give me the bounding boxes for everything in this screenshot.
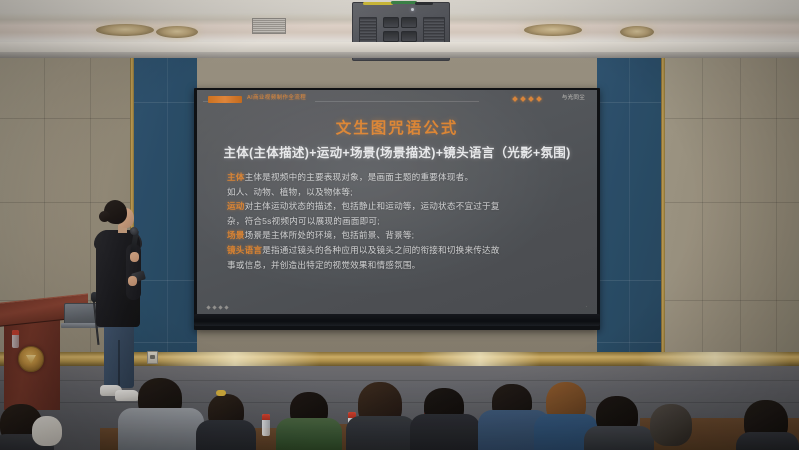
slide-body-line: 场景场景是主体所处的环境，包括前景、背景等; (227, 228, 575, 243)
slide-body-line: 镜头语言是指通过镜头的各种应用以及镜头之间的衔接和切换来传达故 (227, 243, 575, 258)
projection-screen-roller (194, 314, 600, 326)
presenter-hand-mic (130, 252, 139, 262)
water-bottle-podium (12, 330, 19, 348)
slide-logo-text: 与光同尘 (562, 93, 585, 101)
slide-body-text: 主体是视频中的主要表现对象，是画面主题的重要体现者。 (245, 172, 474, 182)
slide-keyword: 场景 (227, 230, 245, 240)
slide-diamond-accents (513, 97, 541, 101)
ceiling (0, 0, 799, 58)
slide-page-marker: · (585, 304, 587, 310)
wall-outlet-left (147, 351, 158, 364)
slide-footer-dots (207, 306, 228, 309)
audience-head (32, 416, 62, 446)
slide-body-text: 对主体运动状态的描述，包括静止和运动等，运动状态不宜过于复 (245, 201, 500, 211)
slide-keyword: 镜头语言 (227, 245, 262, 255)
slide-badge (208, 96, 242, 103)
slide-topbar: AI商业视频制作全流程 与光同尘 (197, 90, 597, 112)
audience-head (650, 404, 692, 446)
hair-tie (216, 390, 226, 396)
slide-body-line: 主体主体是视频中的主要表现对象，是画面主题的重要体现者。 (227, 170, 575, 185)
audience-body (346, 416, 416, 450)
slide-body-text: 如人、动物、植物，以及物体等; (227, 187, 353, 197)
slide-section-label: AI商业视频制作全流程 (247, 93, 306, 101)
water-bottle (262, 414, 270, 436)
microphone-capsule-icon (130, 227, 138, 235)
slide-body-text: 是指通过镜头的各种应用以及镜头之间的衔接和切换来传达故 (262, 245, 499, 255)
presenter-leg-seam (118, 340, 120, 388)
ceiling-vent-icon (252, 18, 286, 34)
slide-content: AI商业视频制作全流程 与光同尘 文生图咒语公式 主体(主体描述)+运动+场景(… (197, 90, 597, 314)
slide-body-text: 事或信息，并创造出特定的视觉效果和情感氛围。 (227, 260, 420, 270)
slide-body-text: 杂，符合5s视频内可以展现的画面即可; (227, 216, 380, 226)
slide-body-line: 杂，符合5s视频内可以展现的画面即可; (227, 214, 575, 229)
slide-body-line: 运动对主体运动状态的描述，包括静止和运动等，运动状态不宜过于复 (227, 199, 575, 214)
audience-body (584, 426, 654, 450)
downlight-icon (524, 24, 582, 36)
downlight-icon (156, 26, 198, 38)
downlight-icon (96, 24, 154, 36)
wall-panel-beige-right (664, 56, 799, 386)
audience-body (196, 420, 256, 450)
audience-body (276, 418, 342, 450)
presenter (86, 200, 148, 410)
presenter-hair-bun (99, 211, 110, 222)
downlight-icon (620, 26, 654, 38)
slide-body-line: 如人、动物、植物，以及物体等; (227, 185, 575, 200)
projection-screen[interactable]: AI商业视频制作全流程 与光同尘 文生图咒语公式 主体(主体描述)+运动+场景(… (197, 90, 597, 314)
presenter-shoe (115, 390, 139, 401)
slide-body-line: 事或信息，并创造出特定的视觉效果和情感氛围。 (227, 258, 575, 273)
slide-body-text: 场景是主体所处的环境，包括前景、背景等; (245, 230, 415, 240)
presenter-hand-phone (128, 276, 137, 286)
slide-keyword: 主体 (227, 172, 245, 182)
podium-emblem (18, 346, 44, 372)
ceiling-edge (0, 52, 799, 58)
audience-body (118, 408, 204, 450)
wall-panel-blue-right (597, 56, 664, 386)
audience-body (736, 432, 799, 450)
lecture-hall-photo: AI商业视频制作全流程 与光同尘 文生图咒语公式 主体(主体描述)+运动+场景(… (0, 0, 799, 450)
audience-body (410, 414, 480, 450)
slide-title: 文生图咒语公式 (197, 116, 597, 138)
slide-body: 主体主体是视频中的主要表现对象，是画面主题的重要体现者。 如人、动物、植物，以及… (227, 170, 575, 272)
gold-trim-right (661, 56, 665, 386)
slide-formula: 主体(主体描述)+运动+场景(场景描述)+镜头语言（光影+氛围) (197, 142, 597, 161)
slide-keyword: 运动 (227, 201, 245, 211)
